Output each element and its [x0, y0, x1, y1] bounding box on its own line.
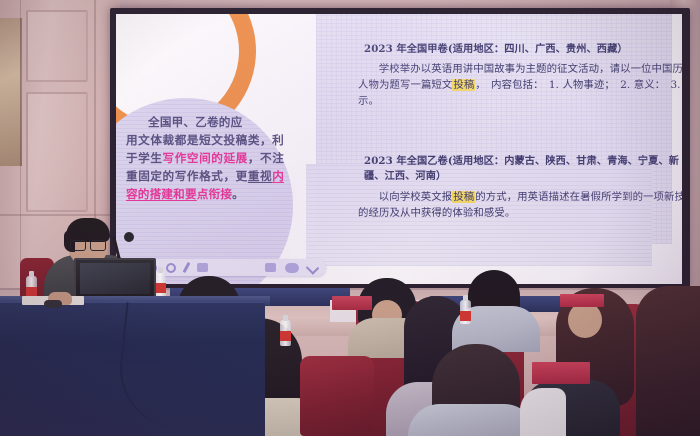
audience-body-6	[408, 404, 536, 436]
eraser-icon[interactable]	[197, 263, 208, 272]
slide-floating-toolbar[interactable]	[138, 259, 326, 276]
projection-screen-frame: 全国甲、乙卷的应 用文体裁都是短文投稿类，利于学生写作空间的延展，不注重固定的写…	[110, 8, 690, 290]
jia-exam-body: 学校举办以英语用讲中国故事为主题的征文活动，请以一位中国历史人物为题写一篇短文投…	[358, 62, 682, 109]
audience-hair-8	[636, 286, 700, 436]
audience-head-7	[568, 302, 602, 338]
name-card-2	[532, 362, 590, 384]
pen-icon[interactable]	[183, 262, 191, 273]
yi-heading-line-1: 2023 年全国乙卷(适用地区：内蒙古、陕西、甘肃、青海、宁夏、	[364, 155, 669, 167]
wall-molding-lower	[26, 92, 88, 212]
more-icon[interactable]	[285, 263, 299, 273]
yi-body-highlight: 投稿	[452, 191, 475, 203]
computer-mouse	[44, 300, 62, 308]
callout-line-6-plain: 重视	[248, 169, 272, 183]
bottle-label-3	[280, 331, 291, 341]
callout-line-4-emphasis: 空间的延展	[187, 151, 248, 165]
callout-line-1: 全国甲、乙卷的应	[148, 115, 242, 129]
play-icon[interactable]	[166, 263, 176, 273]
callout-line-7-emphasis: 点衔接	[197, 187, 232, 201]
bottle-label-1	[155, 283, 166, 293]
yi-body-pre: 以向学校英文报	[379, 191, 452, 203]
name-card-1	[332, 296, 372, 310]
audience-sleeve-7	[520, 388, 566, 436]
bottle-label-4	[460, 311, 471, 321]
laptop-screen	[80, 263, 150, 294]
callout-line-5: 固定的写作格式，更	[138, 169, 248, 183]
presenter-glasses	[70, 240, 106, 249]
presentation-slide: 全国甲、乙卷的应 用文体裁都是短文投稿类，利于学生写作空间的延展，不注重固定的写…	[116, 14, 682, 284]
jia-body-highlight: 投稿	[452, 79, 475, 91]
jia-exam-heading: 2023 年全国甲卷(适用地区：四川、广西、贵州、西藏）	[364, 42, 682, 57]
audience-chair-5	[300, 356, 374, 436]
comment-icon[interactable]	[265, 263, 276, 272]
wall-artwork	[0, 18, 22, 166]
callout-line-2: 用文体裁都是短文投	[126, 133, 236, 147]
share-icon[interactable]	[306, 261, 319, 274]
microphone-icon	[124, 232, 134, 242]
projection-screen: 全国甲、乙卷的应 用文体裁都是短文投稿类，利于学生写作空间的延展，不注重固定的写…	[116, 14, 682, 284]
callout-line-7-tail: 。	[232, 187, 244, 201]
slide-summary-callout: 全国甲、乙卷的应 用文体裁都是短文投稿类，利于学生写作空间的延展，不注重固定的写…	[126, 114, 284, 204]
yi-exam-body: 以向学校英文报投稿的方式，用英语描述在暑假所学到的一项新技能的经历及从中获得的体…	[358, 190, 682, 222]
water-bottle-3	[280, 320, 291, 346]
wall-chair-rail	[0, 214, 120, 216]
lecture-room-scene: 全国甲、乙卷的应 用文体裁都是短文投稿类，利于学生写作空间的延展，不注重固定的写…	[0, 0, 700, 436]
name-card-3	[560, 294, 604, 307]
wall-molding-upper	[26, 10, 88, 82]
callout-line-3-emphasis: 写作	[163, 151, 187, 165]
water-bottle-4	[460, 300, 471, 324]
yi-exam-heading: 2023 年全国乙卷(适用地区：内蒙古、陕西、甘肃、青海、宁夏、新疆、江西、河南…	[364, 154, 682, 185]
